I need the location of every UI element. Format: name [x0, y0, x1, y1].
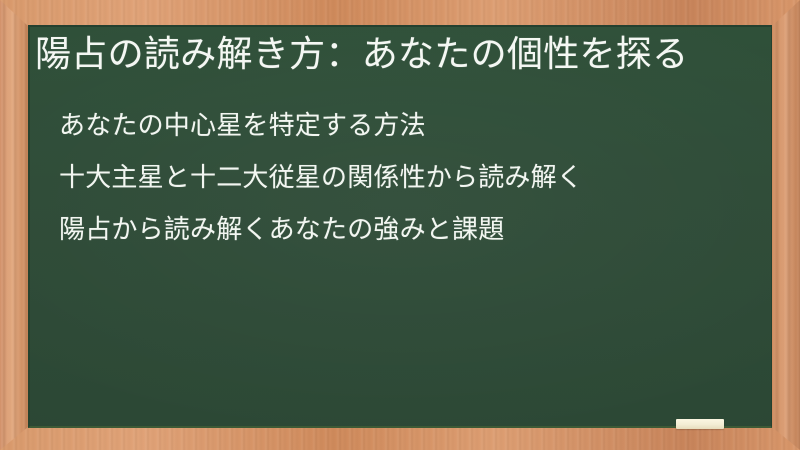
board-content: 陽占の読み解き方：あなたの個性を探る あなたの中心星を特定する方法 十大主星と十…	[35, 27, 763, 256]
frame-rail-right	[772, 0, 800, 450]
list-item: 陽占から読み解くあなたの強みと課題	[59, 204, 763, 256]
page-title: 陽占の読み解き方：あなたの個性を探る	[35, 27, 763, 78]
frame-rail-left	[0, 0, 28, 450]
list-item: あなたの中心星を特定する方法	[59, 100, 763, 152]
frame-ledge-bottom	[0, 427, 800, 450]
blackboard-scene: 陽占の読み解き方：あなたの個性を探る あなたの中心星を特定する方法 十大主星と十…	[0, 0, 800, 450]
chalkboard-surface: 陽占の読み解き方：あなたの個性を探る あなたの中心星を特定する方法 十大主星と十…	[28, 25, 772, 428]
topic-list: あなたの中心星を特定する方法 十大主星と十二大従星の関係性から読み解く 陽占から…	[35, 100, 763, 256]
frame-rail-top	[0, 0, 800, 26]
list-item: 十大主星と十二大従星の関係性から読み解く	[59, 152, 763, 204]
chalk-stick-icon	[676, 419, 724, 429]
